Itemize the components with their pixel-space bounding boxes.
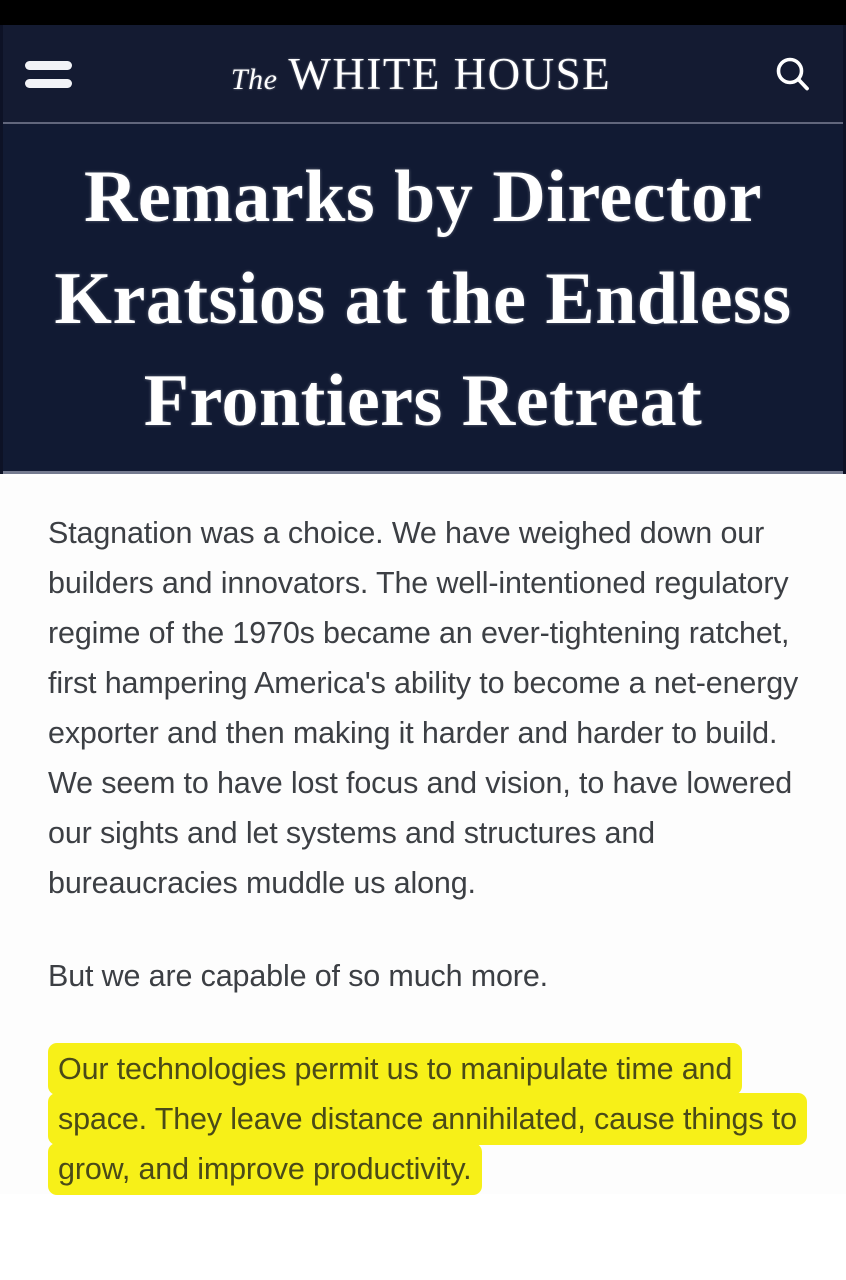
article-body: Stagnation was a choice. We have weighed… <box>0 477 846 1194</box>
article-hero-banner: Remarks by Director Kratsios at the Endl… <box>0 124 846 474</box>
hamburger-bar-top <box>25 61 72 70</box>
highlighted-text: Our technologies permit us to manipulate… <box>48 1043 807 1195</box>
paragraph-1: Stagnation was a choice. We have weighed… <box>48 508 820 908</box>
brand-white-house: WHITE HOUSE <box>288 48 611 100</box>
page-title: Remarks by Director Kratsios at the Endl… <box>3 146 843 452</box>
status-bar <box>0 0 846 25</box>
hamburger-menu-icon[interactable] <box>21 52 77 98</box>
paragraph-2: But we are capable of so much more. <box>48 951 820 1001</box>
mobile-browser-screenshot: The WHITE HOUSE Remarks by Director Krat… <box>0 0 846 1280</box>
hamburger-bar-bottom <box>25 79 72 88</box>
search-icon[interactable] <box>765 47 821 103</box>
site-brand-logo[interactable]: The WHITE HOUSE <box>77 48 765 100</box>
site-header: The WHITE HOUSE <box>0 25 846 124</box>
paragraph-3-highlighted: Our technologies permit us to manipulate… <box>48 1044 820 1194</box>
brand-the-word: The <box>231 63 278 97</box>
